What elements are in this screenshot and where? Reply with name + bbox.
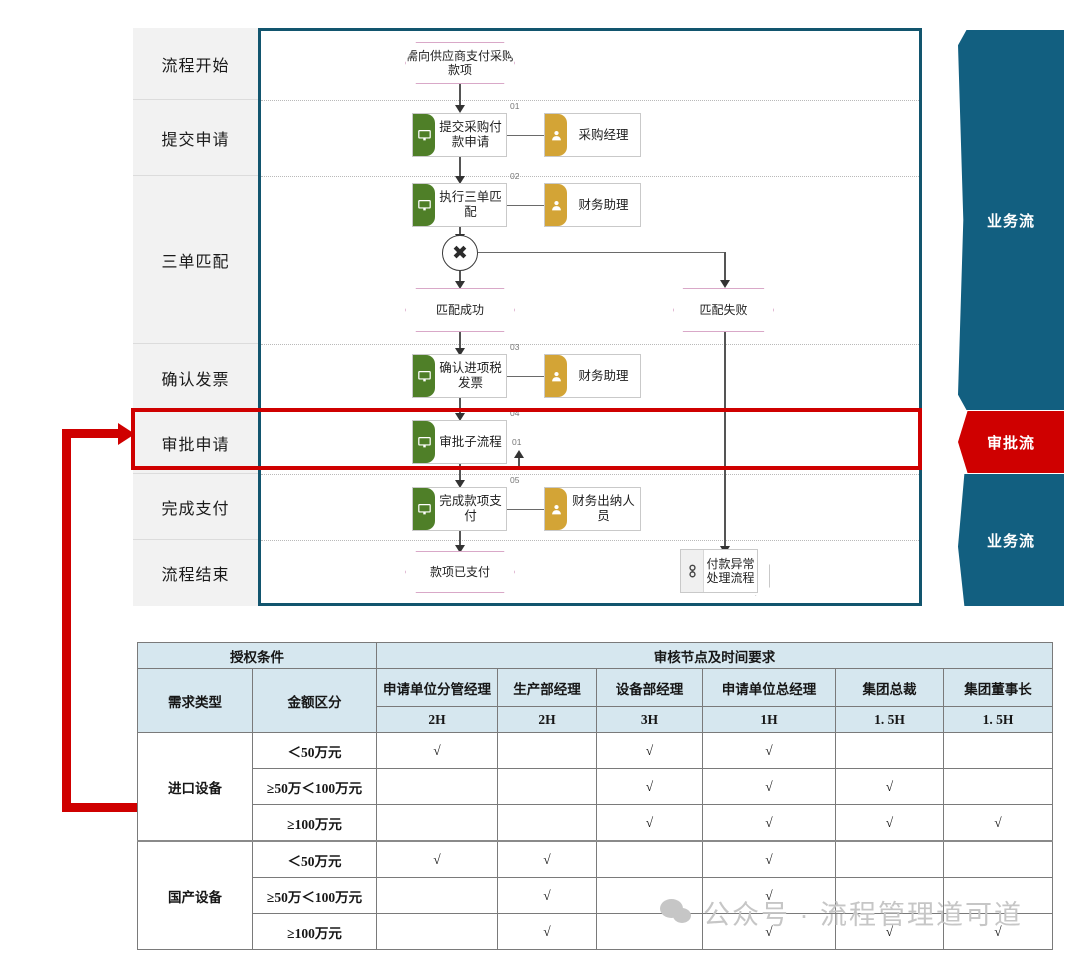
task-number: 01 (510, 101, 519, 111)
check-cell (944, 733, 1053, 769)
check-cell (944, 769, 1053, 805)
phase-cell-6[interactable]: 流程结束 (133, 540, 258, 606)
lane-separator (261, 100, 919, 101)
phase-label: 三单匹配 (161, 248, 229, 272)
check-cell (944, 878, 1053, 914)
banner-segment-business-top[interactable]: 业务流 (958, 30, 1064, 410)
check-cell: √ (703, 841, 836, 878)
check-cell (498, 769, 597, 805)
task-01[interactable]: 提交采购付款申请 (412, 113, 507, 157)
phase-column: 流程开始 提交申请 三单匹配 确认发票 审批申请 完成支付 流程结束 (133, 28, 259, 606)
role-label: 财务助理 (567, 355, 640, 397)
check-cell (597, 841, 703, 878)
check-cell (377, 769, 498, 805)
system-icon (413, 114, 435, 156)
task-02[interactable]: 执行三单匹配 (412, 183, 507, 227)
connector (507, 205, 544, 206)
check-cell: √ (498, 914, 597, 950)
task-number: 03 (510, 342, 519, 352)
subprocess-node[interactable]: 付款异常处理流程 (680, 549, 758, 593)
amount-cell: ≥50万＜100万元 (253, 769, 377, 805)
banner-segment-business-bottom[interactable]: 业务流 (958, 474, 1064, 606)
highlight-connector (62, 803, 142, 812)
banner-label: 业务流 (987, 210, 1035, 231)
col-header-approver-3: 申请单位总经理 (703, 669, 836, 707)
amount-cell: ≥100万元 (253, 914, 377, 950)
phase-cell-3[interactable]: 确认发票 (133, 344, 258, 412)
check-cell (836, 841, 944, 878)
amount-cell: ＜50万元 (253, 733, 377, 769)
time-1: 2H (498, 707, 597, 733)
check-cell (498, 733, 597, 769)
time-5: 1. 5H (944, 707, 1053, 733)
phase-label: 流程开始 (161, 52, 229, 76)
link-icon (681, 550, 704, 592)
task-number: 02 (510, 171, 519, 181)
table-row[interactable]: 进口设备 ＜50万元 √ √ √ (138, 733, 1053, 769)
end-event[interactable]: 款项已支付 (405, 551, 515, 593)
phase-label: 流程结束 (161, 561, 229, 585)
banner-segment-approval[interactable]: 审批流 (958, 411, 1064, 473)
task-03[interactable]: 确认进项税发票 (412, 354, 507, 398)
task-05[interactable]: 完成款项支付 (412, 487, 507, 531)
branch-success-event[interactable]: 匹配成功 (405, 288, 515, 332)
time-0: 2H (377, 707, 498, 733)
table-row[interactable]: 国产设备 ＜50万元 √ √ √ (138, 841, 1053, 878)
highlight-connector (62, 429, 71, 812)
role-03[interactable]: 财务助理 (544, 354, 641, 398)
approval-highlight-box (131, 408, 922, 470)
group-name-1: 国产设备 (138, 841, 253, 950)
group-name-0: 进口设备 (138, 733, 253, 842)
check-cell: √ (836, 914, 944, 950)
system-icon (413, 355, 435, 397)
role-02[interactable]: 财务助理 (544, 183, 641, 227)
col-header-approver-1: 生产部经理 (498, 669, 597, 707)
branch-success-label: 匹配成功 (436, 303, 484, 317)
task-label: 执行三单匹配 (435, 184, 506, 226)
check-cell: √ (836, 805, 944, 842)
time-4: 1. 5H (836, 707, 944, 733)
phase-cell-2[interactable]: 三单匹配 (133, 176, 258, 344)
role-label: 财务助理 (567, 184, 640, 226)
check-cell (836, 733, 944, 769)
table-group-header-row: 授权条件 审核节点及时间要求 (138, 643, 1053, 669)
highlight-connector (62, 429, 122, 438)
amount-cell: ≥50万＜100万元 (253, 878, 377, 914)
person-icon (545, 184, 567, 226)
person-icon (545, 355, 567, 397)
col-header-amount: 金额区分 (253, 669, 377, 733)
check-cell: √ (498, 878, 597, 914)
role-label: 采购经理 (567, 114, 640, 156)
phase-label: 确认发票 (161, 366, 229, 390)
authorization-table: 授权条件 审核节点及时间要求 需求类型 金额区分 申请单位分管经理 生产部经理 … (137, 642, 1053, 950)
lane-separator (261, 474, 919, 475)
check-cell (377, 914, 498, 950)
phase-label: 完成支付 (161, 495, 229, 519)
role-label: 财务出纳人员 (567, 488, 640, 530)
check-cell (944, 841, 1053, 878)
phase-cell-1[interactable]: 提交申请 (133, 100, 258, 176)
check-cell: √ (703, 914, 836, 950)
phase-cell-0[interactable]: 流程开始 (133, 28, 258, 100)
flowchart-canvas: 流程开始 提交申请 三单匹配 确认发票 审批申请 完成支付 流程结束 需向供应商… (0, 0, 1080, 958)
system-icon (413, 488, 435, 530)
arrow-icon (455, 105, 465, 113)
system-icon (413, 184, 435, 226)
time-2: 3H (597, 707, 703, 733)
lane-separator (261, 176, 919, 177)
amount-cell: ≥100万元 (253, 805, 377, 842)
person-icon (545, 114, 567, 156)
check-cell: √ (703, 805, 836, 842)
role-05[interactable]: 财务出纳人员 (544, 487, 641, 531)
connector (507, 376, 544, 377)
check-cell: √ (703, 878, 836, 914)
arrow-icon (720, 280, 730, 288)
task-label: 提交采购付款申请 (435, 114, 506, 156)
table-row[interactable]: ≥100万元 √ √ √ √ (138, 805, 1053, 842)
check-cell: √ (944, 805, 1053, 842)
banner-label: 业务流 (987, 530, 1035, 551)
check-cell: √ (944, 914, 1053, 950)
arrow-icon (118, 423, 135, 445)
check-cell (498, 805, 597, 842)
connector (478, 252, 725, 253)
check-cell (597, 914, 703, 950)
amount-cell: ＜50万元 (253, 841, 377, 878)
col-header-type: 需求类型 (138, 669, 253, 733)
col-header-approver-2: 设备部经理 (597, 669, 703, 707)
check-cell (377, 878, 498, 914)
branch-fail-event[interactable]: 匹配失败 (673, 288, 774, 332)
check-cell: √ (377, 733, 498, 769)
start-event[interactable]: 需向供应商支付采购款项 (405, 42, 515, 84)
task-label: 确认进项税发票 (435, 355, 506, 397)
table-row[interactable]: ≥100万元 √ √ √ √ (138, 914, 1053, 950)
check-cell: √ (836, 769, 944, 805)
check-cell (597, 878, 703, 914)
start-event-label: 需向供应商支付采购款项 (406, 49, 514, 78)
table-header-row: 需求类型 金额区分 申请单位分管经理 生产部经理 设备部经理 申请单位总经理 集… (138, 669, 1053, 707)
role-01[interactable]: 采购经理 (544, 113, 641, 157)
check-cell: √ (597, 769, 703, 805)
check-cell: √ (597, 733, 703, 769)
check-cell: √ (597, 805, 703, 842)
table-row[interactable]: ≥50万＜100万元 √ √ √ (138, 769, 1053, 805)
col-header-approver-0: 申请单位分管经理 (377, 669, 498, 707)
task-label: 完成款项支付 (435, 488, 506, 530)
subprocess-label: 付款异常处理流程 (704, 550, 757, 592)
lane-separator (261, 540, 919, 541)
banner-label: 审批流 (987, 432, 1035, 453)
end-event-label: 款项已支付 (430, 565, 490, 579)
table-row[interactable]: ≥50万＜100万元 √ √ (138, 878, 1053, 914)
person-icon (545, 488, 567, 530)
col-header-approver-5: 集团董事长 (944, 669, 1053, 707)
connector (507, 509, 544, 510)
phase-cell-5[interactable]: 完成支付 (133, 474, 258, 540)
lane-separator (261, 344, 919, 345)
group-header-right: 审核节点及时间要求 (377, 643, 1053, 669)
check-cell (377, 805, 498, 842)
time-3: 1H (703, 707, 836, 733)
check-cell: √ (703, 733, 836, 769)
connector (507, 135, 544, 136)
col-header-approver-4: 集团总裁 (836, 669, 944, 707)
check-cell: √ (703, 769, 836, 805)
arrow-icon (455, 281, 465, 289)
check-cell (836, 878, 944, 914)
phase-label: 提交申请 (161, 126, 229, 150)
exclusive-gateway[interactable]: ✖ (442, 235, 478, 271)
branch-fail-label: 匹配失败 (699, 303, 747, 317)
check-cell: √ (377, 841, 498, 878)
task-number: 05 (510, 475, 519, 485)
gateway-symbol: ✖ (452, 242, 468, 265)
check-cell: √ (498, 841, 597, 878)
group-header-left: 授权条件 (138, 643, 377, 669)
